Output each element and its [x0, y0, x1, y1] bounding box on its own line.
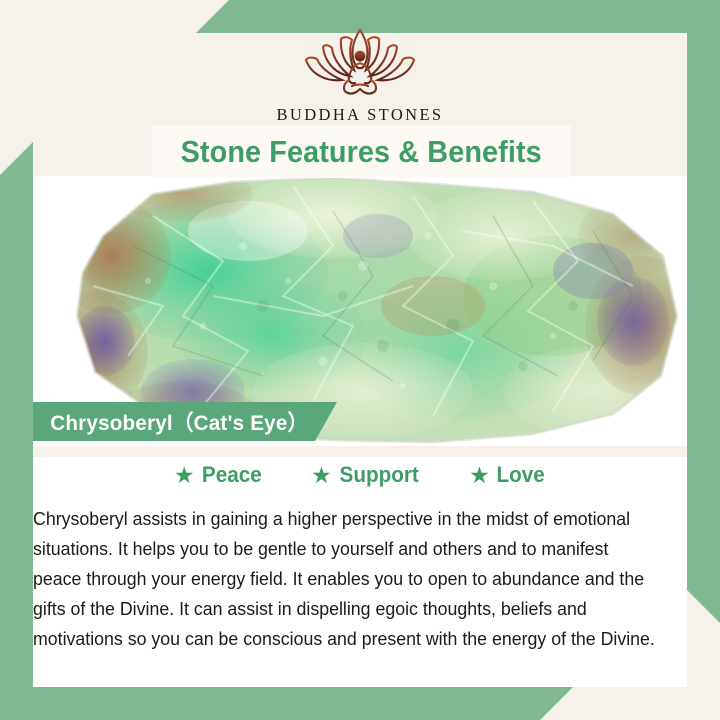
- lotus-meditation-icon: [286, 22, 434, 100]
- stone-name-banner: Chrysoberyl（Cat's Eye）: [33, 402, 337, 441]
- benefit-item-peace: ★ Peace: [174, 462, 263, 488]
- benefit-label: Support: [339, 462, 418, 488]
- content-panel: ★ Peace ★ Support ★ Love Chrysoberyl ass…: [33, 446, 687, 687]
- frame-band-bottom: [0, 687, 573, 720]
- page-title: Stone Features & Benefits: [181, 134, 542, 170]
- title-plate: Stone Features & Benefits: [152, 126, 571, 178]
- panel-top-strip: [33, 446, 687, 457]
- stone-photo: Chrysoberyl（Cat's Eye）: [33, 176, 687, 446]
- frame-band-left: [0, 142, 33, 687]
- star-icon: ★: [311, 464, 332, 487]
- stone-description: Chrysoberyl assists in gaining a higher …: [33, 504, 658, 654]
- stone-name-label: Chrysoberyl（Cat's Eye）: [33, 406, 308, 437]
- benefit-item-support: ★ Support: [311, 462, 421, 488]
- benefit-item-love: ★ Love: [469, 462, 546, 488]
- frame-band-right: [687, 33, 720, 623]
- brand-wordmark: BUDDHA STONES: [276, 105, 443, 125]
- star-icon: ★: [174, 464, 195, 487]
- star-icon: ★: [469, 464, 490, 487]
- benefit-label: Peace: [201, 462, 261, 488]
- infographic-card: BUDDHA STONES Stone Features & Benefits: [0, 0, 720, 720]
- benefit-label: Love: [496, 462, 544, 488]
- benefits-row: ★ Peace ★ Support ★ Love: [33, 462, 687, 488]
